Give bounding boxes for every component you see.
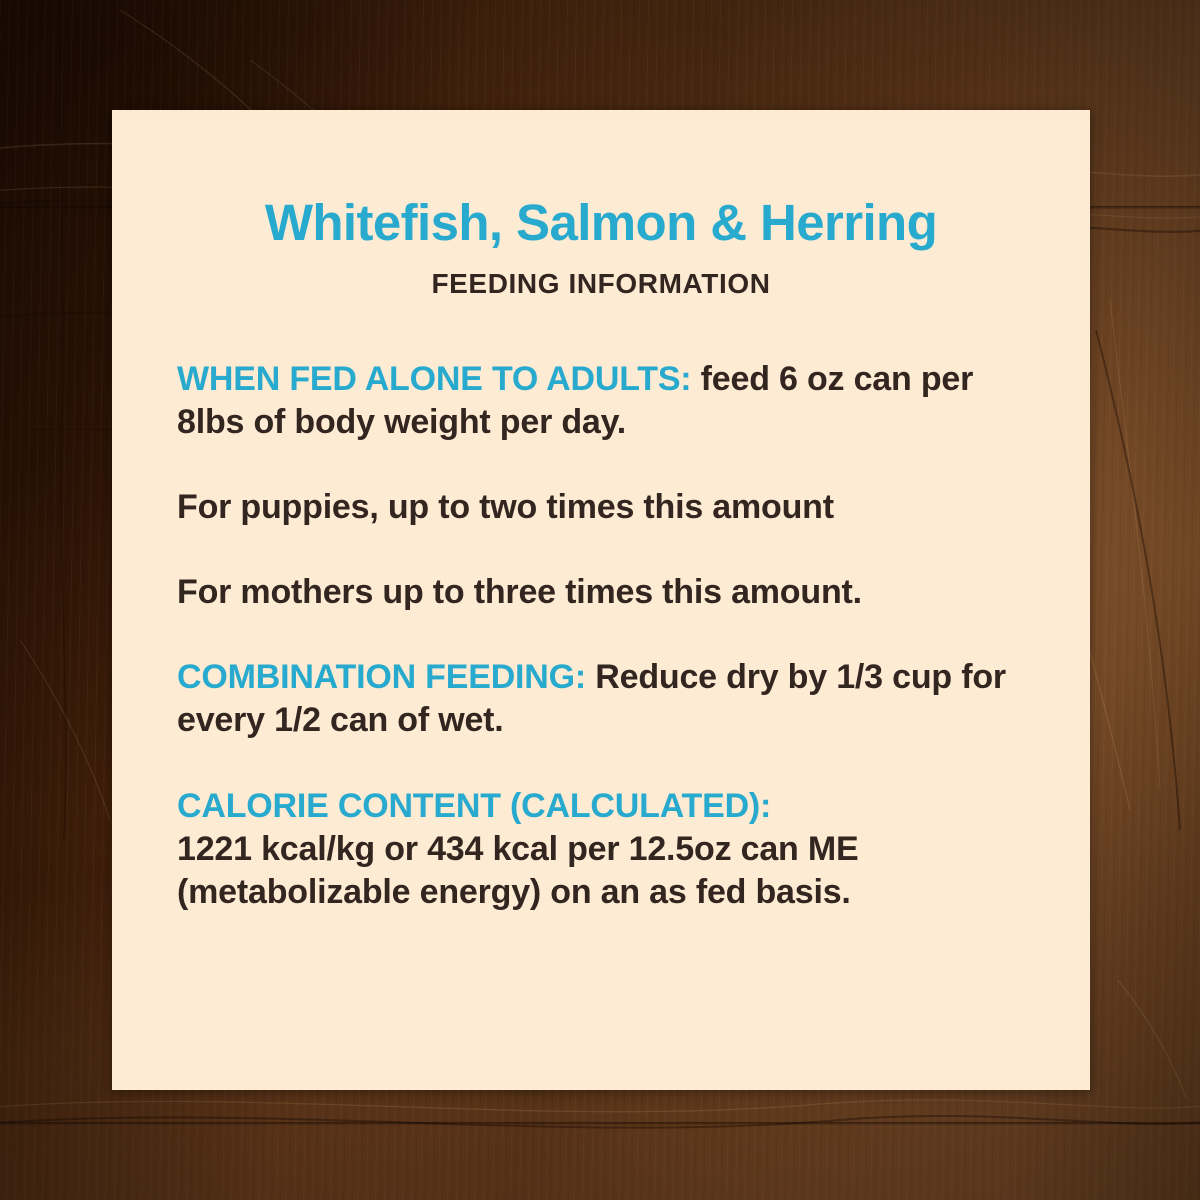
card-header: Whitefish, Salmon & Herring FEEDING INFO…: [177, 110, 1025, 300]
feeding-block-text: For mothers up to three times this amoun…: [177, 573, 862, 611]
feeding-block-when-fed-alone: WHEN FED ALONE TO ADULTS: feed 6 oz can …: [177, 358, 1025, 444]
feeding-block-combination-feeding: COMBINATION FEEDING: Reduce dry by 1/3 c…: [177, 656, 1025, 742]
feeding-sections: WHEN FED ALONE TO ADULTS: feed 6 oz can …: [177, 358, 1025, 915]
product-title: Whitefish, Salmon & Herring: [177, 196, 1025, 250]
feeding-block-puppies: For puppies, up to two times this amount: [177, 486, 1025, 529]
feeding-block-text: 1221 kcal/kg or 434 kcal per 12.5oz can …: [177, 830, 858, 911]
feeding-block-label: COMBINATION FEEDING:: [177, 658, 586, 696]
feeding-block-label: WHEN FED ALONE TO ADULTS:: [177, 360, 691, 398]
feeding-block-mothers: For mothers up to three times this amoun…: [177, 571, 1025, 614]
feeding-block-text: For puppies, up to two times this amount: [177, 488, 834, 526]
feeding-information-card: Whitefish, Salmon & Herring FEEDING INFO…: [112, 110, 1090, 1090]
section-subtitle: FEEDING INFORMATION: [177, 268, 1025, 300]
feeding-block-calorie-content: CALORIE CONTENT (CALCULATED):1221 kcal/k…: [177, 785, 1025, 915]
feeding-block-label: CALORIE CONTENT (CALCULATED):: [177, 785, 1025, 828]
